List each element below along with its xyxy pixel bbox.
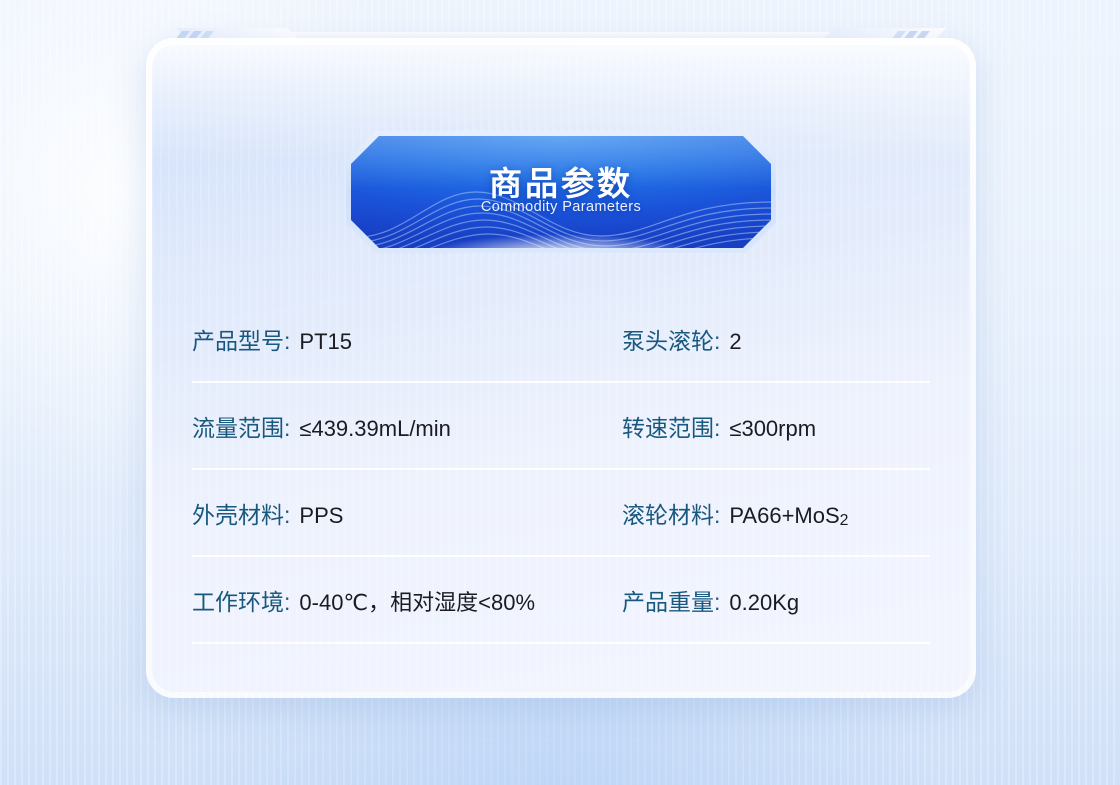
spec-item-flow-range: 流量范围: ≤439.39mL/min xyxy=(192,409,622,443)
spec-label: 泵头滚轮: xyxy=(622,322,720,356)
spec-value: ≤439.39mL/min xyxy=(299,416,451,442)
banner-plate: 商品参数 Commodity Parameters xyxy=(351,136,771,248)
table-row: 流量范围: ≤439.39mL/min 转速范围: ≤300rpm xyxy=(192,383,930,470)
spec-value: PPS xyxy=(299,503,343,529)
spec-label: 产品重量: xyxy=(622,583,720,617)
spec-value-text: PA66+MoS xyxy=(729,503,839,528)
spec-value: PA66+MoS2 xyxy=(729,503,848,530)
banner-subtitle: Commodity Parameters xyxy=(351,199,771,215)
spec-item-pump-head-rollers: 泵头滚轮: 2 xyxy=(622,322,930,356)
spec-label: 流量范围: xyxy=(192,409,290,443)
section-banner: 商品参数 Commodity Parameters xyxy=(351,136,771,248)
table-row: 外壳材料: PPS 滚轮材料: PA66+MoS2 xyxy=(192,470,930,557)
spec-label: 外壳材料: xyxy=(192,496,290,530)
parameters-card: 商品参数 Commodity Parameters 产品型号: PT15 泵头滚… xyxy=(152,44,970,692)
spec-value-subscript: 2 xyxy=(840,511,849,528)
spec-value: ≤300rpm xyxy=(729,416,816,442)
spec-label: 转速范围: xyxy=(622,409,720,443)
spec-value: 0-40℃，相对湿度<80% xyxy=(299,585,535,617)
spec-value: 0.20Kg xyxy=(729,590,799,616)
spec-label: 产品型号: xyxy=(192,322,290,356)
spec-item-housing-material: 外壳材料: PPS xyxy=(192,496,622,530)
spec-label: 滚轮材料: xyxy=(622,496,720,530)
spec-value: 2 xyxy=(729,329,741,355)
spec-item-roller-material: 滚轮材料: PA66+MoS2 xyxy=(622,496,930,530)
spec-item-product-model: 产品型号: PT15 xyxy=(192,322,622,356)
spec-label: 工作环境: xyxy=(192,583,290,617)
banner-title: 商品参数 xyxy=(351,157,771,205)
table-row: 工作环境: 0-40℃，相对湿度<80% 产品重量: 0.20Kg xyxy=(192,557,930,644)
spec-item-product-weight: 产品重量: 0.20Kg xyxy=(622,583,930,617)
product-parameters-page: 商品参数 Commodity Parameters 产品型号: PT15 泵头滚… xyxy=(0,0,1120,785)
specifications-table: 产品型号: PT15 泵头滚轮: 2 流量范围: ≤439.39mL/min 转… xyxy=(192,296,930,644)
parameters-card-frame: 商品参数 Commodity Parameters 产品型号: PT15 泵头滚… xyxy=(146,38,976,698)
spec-item-working-environment: 工作环境: 0-40℃，相对湿度<80% xyxy=(192,583,622,617)
spec-item-speed-range: 转速范围: ≤300rpm xyxy=(622,409,930,443)
table-row: 产品型号: PT15 泵头滚轮: 2 xyxy=(192,296,930,383)
spec-value: PT15 xyxy=(299,329,352,355)
